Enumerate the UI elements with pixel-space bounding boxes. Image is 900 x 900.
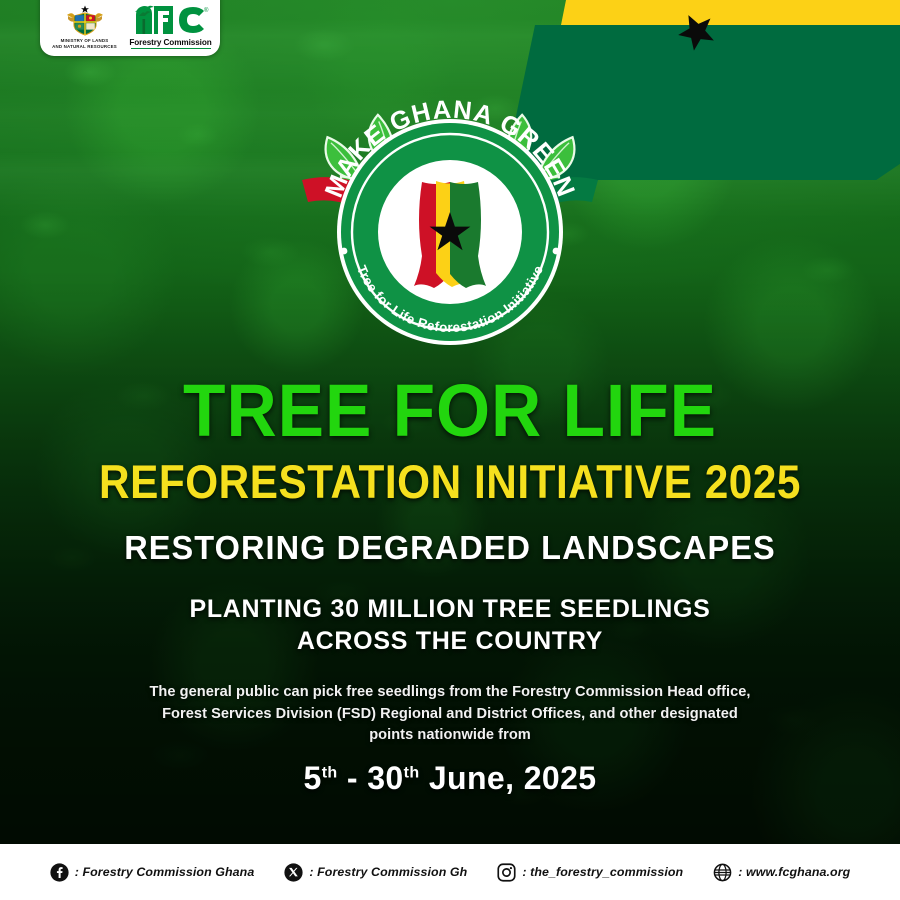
poster-root: MINISTRY OF LANDS AND NATURAL RESOURCES … [0, 0, 900, 900]
date-end-day: 30 [367, 760, 403, 796]
ghana-flag-drape-icon [414, 181, 486, 288]
info-paragraph-line-3: points nationwide from [120, 725, 780, 747]
footer-item-x[interactable]: : Forestry Commission Gh [284, 863, 467, 882]
footer-item-instagram[interactable]: : the_forestry_commission [497, 863, 683, 882]
date-range: 5th - 30th June, 2025 [0, 759, 900, 797]
tagline: RESTORING DEGRADED LANDSCAPES [14, 528, 887, 570]
date-separator: - [338, 760, 368, 796]
info-paragraph-line-1: The general public can pick free seedlin… [120, 682, 780, 704]
ministry-name-line2: AND NATURAL RESOURCES [52, 44, 117, 49]
badge-dot-right [553, 248, 560, 255]
footer-handle-facebook: : Forestry Commission Ghana [75, 865, 255, 879]
badge-dot-left [341, 248, 348, 255]
info-paragraph-line-2: Forest Services Division (FSD) Regional … [120, 704, 780, 726]
date-start-suffix: th [322, 764, 338, 781]
facebook-icon[interactable] [50, 863, 69, 882]
page-title: TREE FOR LIFE [27, 372, 873, 450]
goal-line-2: ACROSS THE COUNTRY [0, 626, 900, 656]
make-ghana-green-badge: MAKE GHANA GREEN Tree for Life Reforesta… [294, 46, 606, 346]
x-twitter-icon[interactable] [284, 863, 303, 882]
forestry-commission-mark-icon: ® [133, 3, 209, 37]
footer-social-bar: : Forestry Commission Ghana : Forestry C… [0, 844, 900, 900]
goal-line-1: PLANTING 30 MILLION TREE SEEDLINGS [0, 594, 900, 624]
footer-handle-website: : www.fcghana.org [738, 865, 850, 879]
ministry-of-lands-logo: MINISTRY OF LANDS AND NATURAL RESOURCES [49, 4, 121, 49]
page-subtitle: REFORESTATION INITIATIVE 2025 [45, 454, 855, 510]
footer-handle-instagram: : the_forestry_commission [522, 865, 683, 879]
date-end-suffix: th [404, 764, 420, 781]
svg-text:®: ® [204, 7, 209, 14]
organisation-logo-card: MINISTRY OF LANDS AND NATURAL RESOURCES … [40, 0, 220, 56]
forestry-commission-logo: ® Forestry Commission [130, 3, 212, 49]
footer-handle-x: : Forestry Commission Gh [309, 865, 467, 879]
ghana-coat-of-arms-icon [65, 4, 105, 36]
info-paragraph: The general public can pick free seedlin… [120, 682, 780, 747]
forestry-commission-name: Forestry Commission [129, 38, 211, 47]
footer-item-website[interactable]: : www.fcghana.org [713, 863, 850, 882]
forestry-commission-underline [131, 48, 211, 49]
headline-block: TREE FOR LIFE REFORESTATION INITIATIVE 2… [0, 372, 900, 797]
instagram-icon[interactable] [497, 863, 516, 882]
date-start-day: 5 [303, 760, 321, 796]
date-month-year: June, 2025 [420, 760, 597, 796]
footer-item-facebook[interactable]: : Forestry Commission Ghana [50, 863, 255, 882]
globe-icon[interactable] [713, 863, 732, 882]
